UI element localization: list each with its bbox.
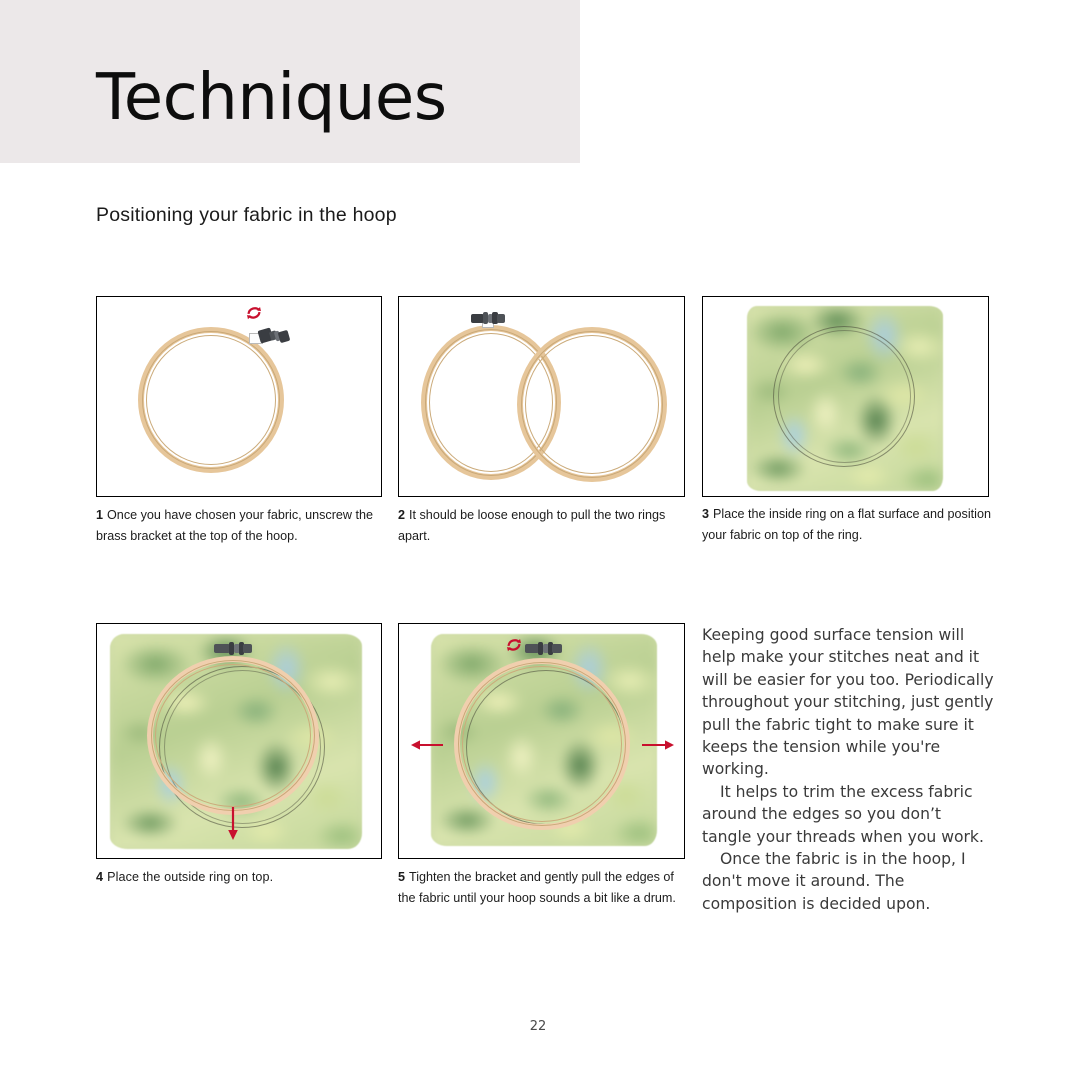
page-number: 22 xyxy=(0,1019,1076,1034)
figure-2 xyxy=(398,296,685,497)
figure-3-caption-number: 3 xyxy=(702,507,709,521)
figure-3-artwork xyxy=(703,297,988,496)
bracket-icon xyxy=(525,642,565,658)
figure-2-caption: 2It should be loose enough to pull the t… xyxy=(398,505,678,546)
figure-1 xyxy=(96,296,382,497)
figure-3 xyxy=(702,296,989,497)
figure-2-artwork xyxy=(399,297,684,496)
figure-4-caption: 4Place the outside ring on top. xyxy=(96,867,386,888)
body-paragraph-2: It helps to trim the excess fabric aroun… xyxy=(702,781,994,848)
figure-5-frame xyxy=(398,623,685,859)
arrow-right-icon xyxy=(642,738,674,752)
arrow-down-icon xyxy=(225,807,241,841)
page-title: Techniques xyxy=(96,66,447,130)
figure-5-caption-number: 5 xyxy=(398,870,405,884)
bracket-icon xyxy=(471,309,511,329)
figure-2-caption-number: 2 xyxy=(398,508,405,522)
figure-4-caption-number: 4 xyxy=(96,870,103,884)
rotation-arrow-icon xyxy=(243,302,265,324)
arrow-left-icon xyxy=(411,738,443,752)
figure-1-caption: 1Once you have chosen your fabric, unscr… xyxy=(96,505,386,546)
figure-3-caption: 3Place the inside ring on a flat surface… xyxy=(702,504,994,545)
figure-1-caption-number: 1 xyxy=(96,508,103,522)
hoop-ring-icon xyxy=(147,656,319,815)
hoop-ring-icon xyxy=(138,327,284,473)
figure-2-frame xyxy=(398,296,685,497)
figure-4-artwork xyxy=(97,624,381,858)
figure-3-caption-text: Place the inside ring on a flat surface … xyxy=(702,507,991,542)
hoop-ring-icon-right xyxy=(517,327,667,482)
figure-1-caption-text: Once you have chosen your fabric, unscre… xyxy=(96,508,373,543)
section-heading: Positioning your fabric in the hoop xyxy=(96,204,397,227)
figure-4-frame xyxy=(96,623,382,859)
figure-1-artwork xyxy=(97,297,381,496)
figure-5-caption: 5Tighten the bracket and gently pull the… xyxy=(398,867,683,908)
figure-4-caption-text: Place the outside ring on top. xyxy=(107,870,273,884)
figure-5-caption-text: Tighten the bracket and gently pull the … xyxy=(398,870,676,905)
figure-3-frame xyxy=(702,296,989,497)
bracket-icon xyxy=(243,325,297,347)
body-paragraph-3: Once the fabric is in the hoop, I don't … xyxy=(702,848,994,915)
figure-2-caption-text: It should be loose enough to pull the tw… xyxy=(398,508,665,543)
ghost-ring-icon-inner xyxy=(778,330,911,463)
figure-5-artwork xyxy=(399,624,684,858)
hoop-ring-icon xyxy=(454,658,630,830)
figure-4 xyxy=(96,623,382,859)
figure-5 xyxy=(398,623,685,859)
body-text-column: Keeping good surface tension will help m… xyxy=(702,624,994,915)
body-paragraph-1: Keeping good surface tension will help m… xyxy=(702,624,994,781)
rotation-arrow-icon xyxy=(503,634,525,656)
figure-1-frame xyxy=(96,296,382,497)
bracket-icon xyxy=(214,642,254,658)
